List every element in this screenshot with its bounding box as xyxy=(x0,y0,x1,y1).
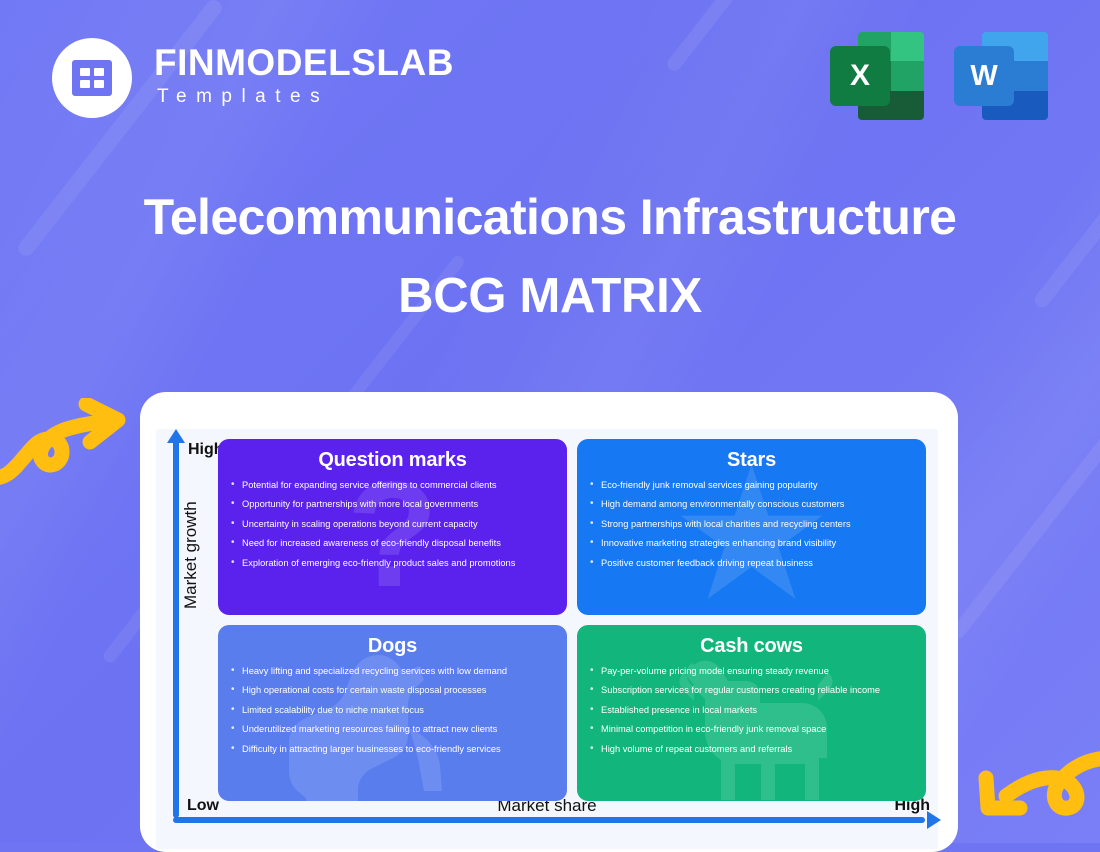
quadrant-title: Cash cows xyxy=(590,635,913,658)
quadrant-stars[interactable]: ★ Stars Eco-friendly junk removal servic… xyxy=(577,439,926,615)
bcg-matrix-card: High Low High Market growth Market share… xyxy=(140,392,958,852)
quadrant-title: Dogs xyxy=(231,635,554,658)
page-title: Telecommunications Infrastructure xyxy=(0,188,1100,246)
background-streak xyxy=(948,412,1100,641)
quadrant-title: Question marks xyxy=(231,449,554,472)
bcg-quadrant-grid: ? Question marks Potential for expanding… xyxy=(218,439,926,801)
y-axis-line xyxy=(173,440,179,818)
list-item: Minimal competition in eco-friendly junk… xyxy=(590,724,913,735)
list-item: High operational costs for certain waste… xyxy=(231,685,554,696)
list-item: Positive customer feedback driving repea… xyxy=(590,558,913,569)
quadrant-bullet-list: Heavy lifting and specialized recycling … xyxy=(231,666,554,755)
page-subtitle: BCG MATRIX xyxy=(0,268,1100,325)
list-item: Exploration of emerging eco-friendly pro… xyxy=(231,558,554,569)
word-icon[interactable]: W xyxy=(954,28,1048,120)
brand-name: FINMODELSLAB xyxy=(154,44,454,83)
page-title-block: Telecommunications Infrastructure BCG MA… xyxy=(0,188,1100,325)
list-item: High volume of repeat customers and refe… xyxy=(590,744,913,755)
list-item: Pay-per-volume pricing model ensuring st… xyxy=(590,666,913,677)
quadrant-title: Stars xyxy=(590,449,913,472)
bcg-matrix-panel: High Low High Market growth Market share… xyxy=(156,429,938,849)
list-item: Innovative marketing strategies enhancin… xyxy=(590,538,913,549)
y-axis-arrow-icon xyxy=(167,429,185,443)
list-item: Need for increased awareness of eco-frie… xyxy=(231,538,554,549)
excel-icon-letter: X xyxy=(830,46,890,106)
quadrant-question-marks[interactable]: ? Question marks Potential for expanding… xyxy=(218,439,567,615)
list-item: Heavy lifting and specialized recycling … xyxy=(231,666,554,677)
page-header: FINMODELSLAB Templates X W xyxy=(0,0,1100,150)
word-icon-letter: W xyxy=(954,46,1014,106)
list-item: Potential for expanding service offering… xyxy=(231,480,554,491)
y-axis-title: Market growth xyxy=(181,501,201,609)
app-format-icons: X W xyxy=(830,28,1048,120)
quadrant-bullet-list: Potential for expanding service offering… xyxy=(231,480,554,569)
quadrant-cash-cows[interactable]: Cash cows Pay-per-volume pricing model e… xyxy=(577,625,926,801)
excel-icon[interactable]: X xyxy=(830,28,924,120)
list-item: High demand among environmentally consci… xyxy=(590,499,913,510)
brand-logo[interactable]: FINMODELSLAB Templates xyxy=(52,38,454,118)
squiggly-arrow-up-right-icon xyxy=(0,398,136,493)
x-axis-line xyxy=(173,817,925,823)
list-item: Uncertainty in scaling operations beyond… xyxy=(231,519,554,530)
quadrant-dogs[interactable]: Dogs Heavy lifting and specialized recyc… xyxy=(218,625,567,801)
grid-logo-icon xyxy=(52,38,132,118)
brand-subtitle: Templates xyxy=(154,83,454,112)
squiggly-arrow-down-left-icon xyxy=(958,748,1100,843)
list-item: Opportunity for partnerships with more l… xyxy=(231,499,554,510)
quadrant-bullet-list: Eco-friendly junk removal services gaini… xyxy=(590,480,913,569)
list-item: Difficulty in attracting larger business… xyxy=(231,744,554,755)
list-item: Subscription services for regular custom… xyxy=(590,685,913,696)
list-item: Limited scalability due to niche market … xyxy=(231,705,554,716)
list-item: Eco-friendly junk removal services gaini… xyxy=(590,480,913,491)
list-item: Strong partnerships with local charities… xyxy=(590,519,913,530)
quadrant-bullet-list: Pay-per-volume pricing model ensuring st… xyxy=(590,666,913,755)
list-item: Established presence in local markets xyxy=(590,705,913,716)
list-item: Underutilized marketing resources failin… xyxy=(231,724,554,735)
